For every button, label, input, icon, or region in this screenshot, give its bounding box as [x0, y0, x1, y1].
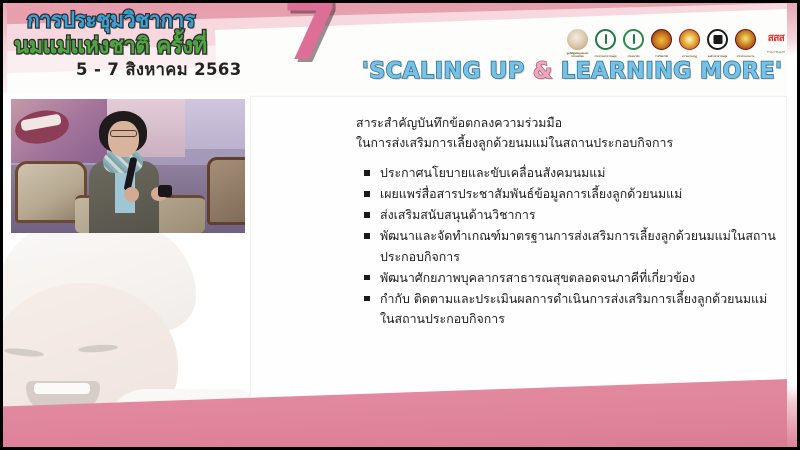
slogan-text-part-1: 'SCALING UP: [362, 59, 533, 84]
letterbox-left: [0, 0, 3, 450]
breastfeeding-foundation-logo: มูลนิธิศูนย์นมแม่แห่งประเทศไทย: [566, 28, 589, 58]
slogan-text-part-2: LEARNING MORE': [553, 59, 783, 84]
speaker-eyeglasses: [110, 130, 137, 137]
content-text-panel: สาระสำคัญบันทึกข้อตกลงความร่วมมือ ในการส…: [250, 96, 787, 414]
stage-armchair-right: [207, 157, 245, 225]
ministry-labour-logo: กระทรวงแรงงาน: [734, 28, 757, 58]
baby-teeth: [34, 383, 90, 394]
slide-body: สาระสำคัญบันทึกข้อตกลงความร่วมมือ ในการส…: [0, 93, 800, 450]
slide-left-pink-edge: [3, 3, 7, 93]
list-item: ส่งเสริมสนับสนุนด้านวิชาการ: [363, 205, 778, 226]
content-lead-line-2: ในการส่งเสริมการเลี้ยงลูกด้วยนมแม่ในสถาน…: [356, 133, 776, 153]
video-backdrop-poster-right: [185, 99, 245, 149]
ministry-public-health-logo: กระทรวงสาธารณสุข: [594, 28, 617, 58]
royal-college-logo: ราชวิทยาลัย: [650, 28, 673, 58]
conference-edition-number: 7: [282, 0, 339, 73]
thaihealth-sss-subtitle: THAI HEALTH: [762, 50, 790, 54]
conference-date: 5 - 7 สิงหาคม 2563: [76, 57, 242, 83]
thaihealth-sss-logo: สสส THAI HEALTH: [762, 28, 790, 58]
list-item: พัฒนาและจัดทำเกณฑ์มาตรฐานการส่งเสริมการเ…: [363, 226, 778, 267]
slide-header-banner: การประชุมวิชาการ นมแม่แห่งชาติ ครั้งที่ …: [0, 0, 800, 93]
speaker-hand-left: [124, 187, 139, 202]
partner-logo-strip: มูลนิธิศูนย์นมแม่แห่งประเทศไทย กระทรวงสา…: [566, 26, 790, 58]
royal-emblem-logo: ตรามหามงกุฎ: [678, 28, 701, 58]
department-health-logo: กรมอนามัย: [622, 28, 645, 58]
speaker-clicker-remote: [158, 185, 172, 197]
content-lead-line-1: สาระสำคัญบันทึกข้อตกลงความร่วมมือ: [356, 113, 776, 133]
conference-slogan: 'SCALING UP & LEARNING MORE': [362, 59, 782, 84]
list-item: พัฒนาศักยภาพบุคลากรสาธารณสุขตลอดจนภาคีที…: [363, 268, 778, 289]
slogan-ampersand: &: [533, 59, 553, 84]
content-bullet-list: ประกาศนโยบายและขับเคลื่อนสังคมนมแม่ เผยแ…: [363, 163, 778, 330]
thaihealth-sss-mark: สสส: [762, 31, 790, 46]
list-item: เผยแพร่สื่อสารประชาสัมพันธ์ข้อมูลการเลี้…: [363, 184, 778, 205]
speaker-face: [108, 121, 139, 157]
letterbox-top: [0, 0, 800, 3]
presentation-slide: การประชุมวิชาการ นมแม่แห่งชาติ ครั้งที่ …: [0, 0, 800, 450]
unicef-style-logo: องค์กรสาธารณสุข: [706, 28, 729, 58]
list-item: ประกาศนโยบายและขับเคลื่อนสังคมนมแม่: [363, 163, 778, 184]
content-lead-paragraph: สาระสำคัญบันทึกข้อตกลงความร่วมมือ ในการส…: [356, 113, 776, 153]
speaker-video-thumbnail[interactable]: [11, 99, 245, 233]
list-item: กำกับ ติดตามและประเมินผลการดำเนินการส่งเ…: [363, 289, 778, 330]
slide-right-pink-edge: [787, 3, 797, 447]
